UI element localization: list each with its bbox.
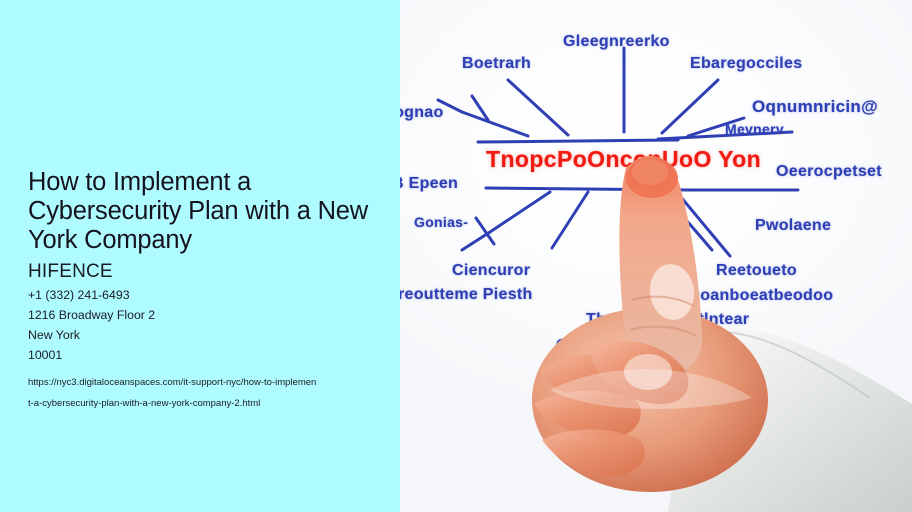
- text-block: How to Implement a Cybersecurity Plan wi…: [28, 168, 376, 414]
- mindmap-label: Oeerocpetset: [776, 163, 882, 181]
- mindmap-label: Mevnerv: [725, 121, 784, 137]
- mindmap-center-label: TnopcPoOnconUoO Yon: [486, 146, 761, 173]
- left-info-panel: How to Implement a Cybersecurity Plan wi…: [0, 0, 400, 512]
- address-city: New York: [28, 325, 376, 345]
- mindmap-label: Gonias-: [414, 214, 468, 230]
- promo-banner: How to Implement a Cybersecurity Plan wi…: [0, 0, 912, 512]
- address-zip: 10001: [28, 345, 376, 365]
- mindmap-label: Reetoueto: [716, 262, 797, 280]
- mindmap-label: uognao: [400, 104, 444, 122]
- brand-name: HIFENCE: [28, 260, 376, 283]
- source-url[interactable]: https://nyc3.digitaloceanspaces.com/it-s…: [28, 372, 376, 414]
- mindmap-label: Gmenaivela: [556, 337, 649, 355]
- address-street: 1216 Broadway Floor 2: [28, 305, 376, 325]
- article-hero-image: TnopcPoOnconUoO Yon BoetrarhGleegnreerko…: [400, 0, 912, 512]
- mindmap-label: Ciencuror: [452, 262, 530, 280]
- mindmap-label: Pwolaene: [755, 217, 831, 235]
- page-title: How to Implement a Cybersecurity Plan wi…: [28, 168, 376, 255]
- mindmap-label: Gleegnreerko: [563, 33, 670, 51]
- source-url-line-1: https://nyc3.digitaloceanspaces.com/it-s…: [28, 372, 376, 393]
- mindmap-label: Oqnumnricin@: [752, 97, 878, 117]
- mindmap-label: Ebaregocciles: [690, 55, 802, 73]
- mindmap-label: B Epeen: [400, 175, 458, 193]
- mindmap-label: coanboeatbeodoo: [691, 287, 833, 305]
- mindmap-label: reoutteme Piesth: [400, 286, 533, 304]
- mindmap-spokes: [400, 0, 912, 512]
- source-url-line-2: t-a-cybersecurity-plan-with-a-new-york-c…: [28, 393, 376, 414]
- phone-number[interactable]: +1 (332) 241-6493: [28, 285, 376, 305]
- mindmap-label: Boetrarh: [462, 55, 531, 73]
- mindmap-label: Theoftoo azhetlntear: [586, 311, 749, 329]
